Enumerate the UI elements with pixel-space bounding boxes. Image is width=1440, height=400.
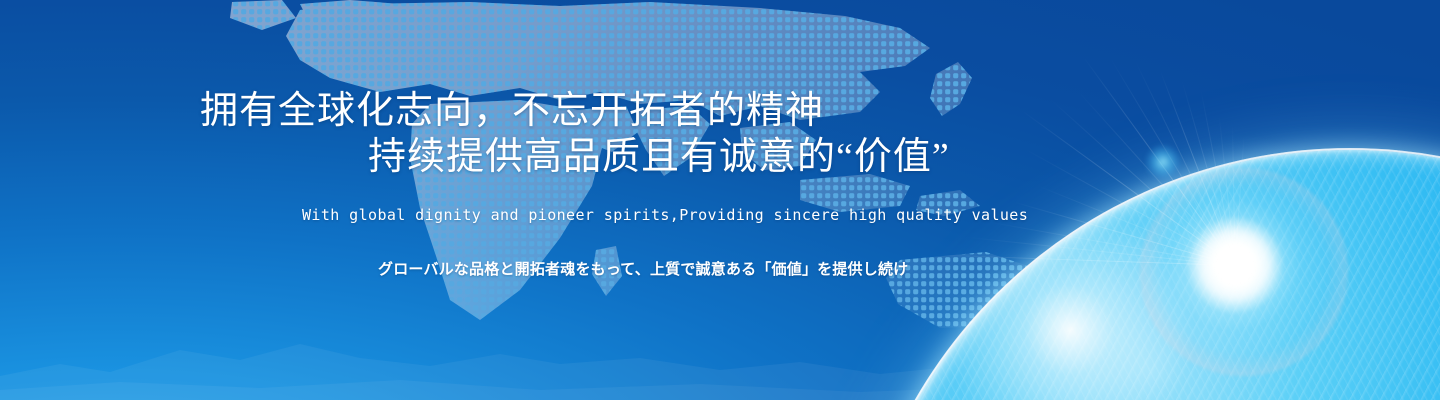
- subheadline-japanese: グローバルな品格と開拓者魂をもって、上質で誠意ある「価値」を提供し続け: [378, 258, 908, 279]
- banner-copy: 拥有全球化志向，不忘开拓者的精神 持续提供高品质且有诚意的“价值” With g…: [0, 0, 1440, 400]
- headline-line-2: 持续提供高品质且有诚意的“价值”: [368, 138, 950, 176]
- globe-rim-highlight: [848, 148, 1440, 400]
- globe-sphere: [850, 150, 1440, 400]
- mountain-silhouette: [0, 320, 1440, 400]
- globe-cloud-texture: [850, 150, 1440, 400]
- headline-line-1: 拥有全球化志向，不忘开拓者的精神: [200, 92, 824, 130]
- hero-banner: 拥有全球化志向，不忘开拓者的精神 持续提供高品质且有诚意的“价值” With g…: [0, 0, 1440, 400]
- globe-surface-detail: [850, 150, 1440, 400]
- subheadline-english: With global dignity and pioneer spirits,…: [302, 206, 1028, 224]
- dotted-world-map: [0, 0, 1180, 400]
- flare-halo-ring: [1140, 168, 1348, 376]
- earth-globe: [820, 0, 1440, 400]
